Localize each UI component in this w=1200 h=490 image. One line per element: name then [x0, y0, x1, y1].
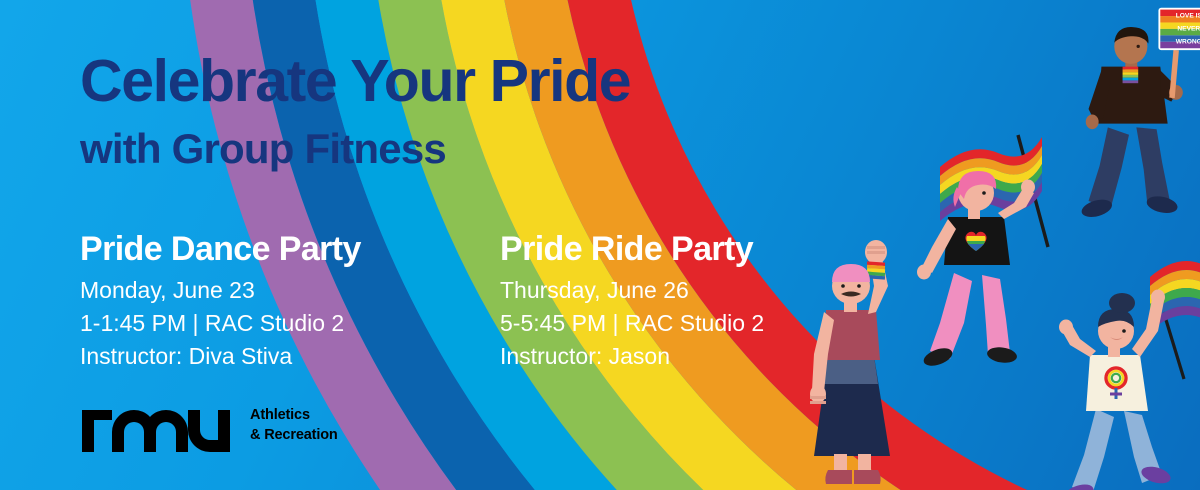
protest-sign: LOVE IS NEVER WRONG	[1158, 8, 1200, 50]
page-title: Celebrate Your Pride	[80, 52, 630, 111]
person-with-flag-bottom-figure	[1059, 251, 1200, 490]
event-card-pride-dance-party: Pride Dance Party Monday, June 23 1-1:45…	[80, 232, 361, 373]
event-card-pride-ride-party: Pride Ride Party Thursday, June 26 5-5:4…	[500, 232, 764, 373]
person-raised-fist-figure	[810, 240, 890, 484]
event-time-location: 5-5:45 PM | RAC Studio 2	[500, 307, 764, 340]
person-with-flag-top-figure	[917, 135, 1048, 369]
sign-line-1: LOVE IS	[1176, 13, 1200, 20]
event-instructor: Instructor: Jason	[500, 340, 764, 373]
event-instructor: Instructor: Diva Stiva	[80, 340, 361, 373]
event-date: Thursday, June 26	[500, 274, 764, 307]
logo-lockup-line-1: Athletics	[250, 406, 338, 426]
tmu-wordmark-icon	[82, 398, 234, 454]
sign-line-2: NEVER	[1177, 25, 1200, 32]
event-date: Monday, June 23	[80, 274, 361, 307]
page-subtitle: with Group Fitness	[80, 128, 446, 170]
tmu-athletics-recreation-logo: Athletics & Recreation	[82, 398, 338, 454]
rainbow-scarf-detail	[1123, 67, 1139, 84]
rainbow-wristband-detail	[867, 261, 885, 279]
person-with-sign-figure: LOVE IS NEVER WRONG	[1080, 8, 1200, 220]
event-title: Pride Ride Party	[500, 232, 764, 268]
logo-lockup-text: Athletics & Recreation	[250, 406, 338, 445]
event-time-location: 1-1:45 PM | RAC Studio 2	[80, 307, 361, 340]
pride-fitness-poster: LOVE IS NEVER WRONG	[0, 0, 1200, 490]
event-title: Pride Dance Party	[80, 232, 361, 268]
sign-line-3: WRONG	[1176, 38, 1200, 45]
logo-lockup-line-2: & Recreation	[250, 426, 338, 446]
